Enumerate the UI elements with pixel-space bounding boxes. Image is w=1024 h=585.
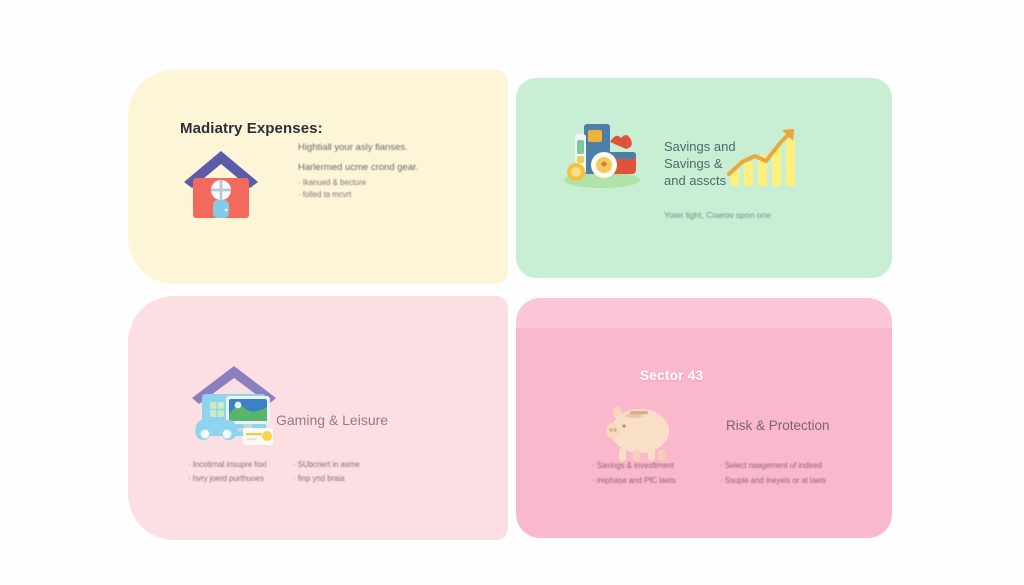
savings-jar-icon [558, 120, 644, 190]
card-bullet-item: · Select naagement uf indired [720, 461, 822, 470]
card-gaming-leisure[interactable]: Gaming & Leisure · Incotirnal insupre fo… [128, 296, 508, 540]
card-savings-assets[interactable]: Savings and Savings & and asscts Yoter l… [516, 78, 892, 278]
card-bullet-item: · irephase and PfC laets [592, 476, 676, 485]
card-bullet-item: · Savings & investtment [592, 461, 674, 470]
card-risk-protection[interactable]: Sector 43 Risk & Protection · Savings & … [516, 298, 892, 538]
infographic-canvas: Madiatry Expenses: Hightiall your asly f… [0, 0, 1024, 585]
card-heading: Risk & Protection [726, 418, 830, 433]
card-heading: Madiatry Expenses: [180, 120, 323, 137]
house-icon [182, 148, 260, 220]
bar-chart-growth-icon [724, 126, 800, 188]
card-bullet-item: · finp ynd braia [293, 474, 345, 483]
piggy-bank-icon [600, 398, 680, 466]
card-bullet-item: · Ikanued & becture [298, 178, 366, 187]
card-subtitle: Yoter light, Coиrov spon one [664, 210, 771, 220]
card-bullet-item: · Ssuple and ineyels or al laets [720, 476, 826, 485]
card-body-line: Harlermed ucme crond gear. [298, 162, 418, 173]
status-badge: Sector 43 [640, 368, 703, 383]
card-bullet-item: · Incotirnal insupre foxl [188, 460, 266, 469]
card-bullet-item: · SUbcriert in asme [293, 460, 360, 469]
gaming-house-icon [190, 364, 282, 446]
card-sheen [516, 298, 892, 328]
card-bullet-item: · hvry joerd purthuoes [188, 474, 264, 483]
card-bullet-item: · folled ta mcvrt [298, 190, 351, 199]
card-body-line: Hightiall your asly fianses. [298, 142, 408, 153]
card-mandatory-expenses[interactable]: Madiatry Expenses: Hightiall your asly f… [128, 70, 508, 284]
card-heading: Gaming & Leisure [276, 412, 388, 428]
